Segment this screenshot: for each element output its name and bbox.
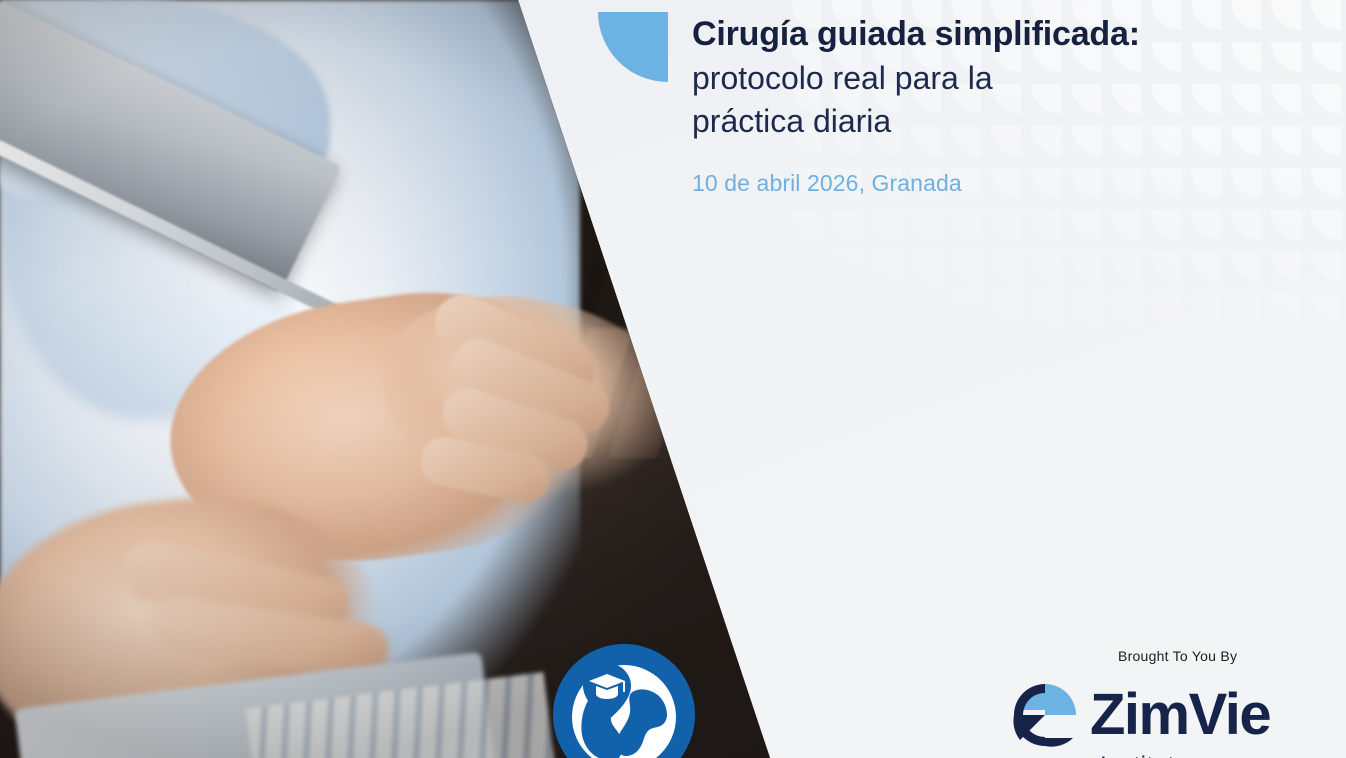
zimvie-circle-z-mark-icon [1012,682,1078,748]
page-title: Cirugía guiada simplificada: [692,14,1292,55]
zimvie-institute-label: Institute [1100,752,1189,758]
zimvie-wordmark: ZimVie [1090,686,1270,744]
sponsor-kicker: Brought To You By [1118,648,1237,664]
banner-stage: Cirugía guiada simplificada: protocolo r… [0,0,1346,758]
page-subtitle-line-1: protocolo real para la [692,57,1292,100]
headline-block: Cirugía guiada simplificada: protocolo r… [692,14,1292,143]
zimvie-logo: ZimVie Institute [1012,682,1312,758]
event-date-location: 10 de abril 2026, Granada [692,170,962,197]
page-subtitle-line-2: práctica diaria [692,100,1292,143]
